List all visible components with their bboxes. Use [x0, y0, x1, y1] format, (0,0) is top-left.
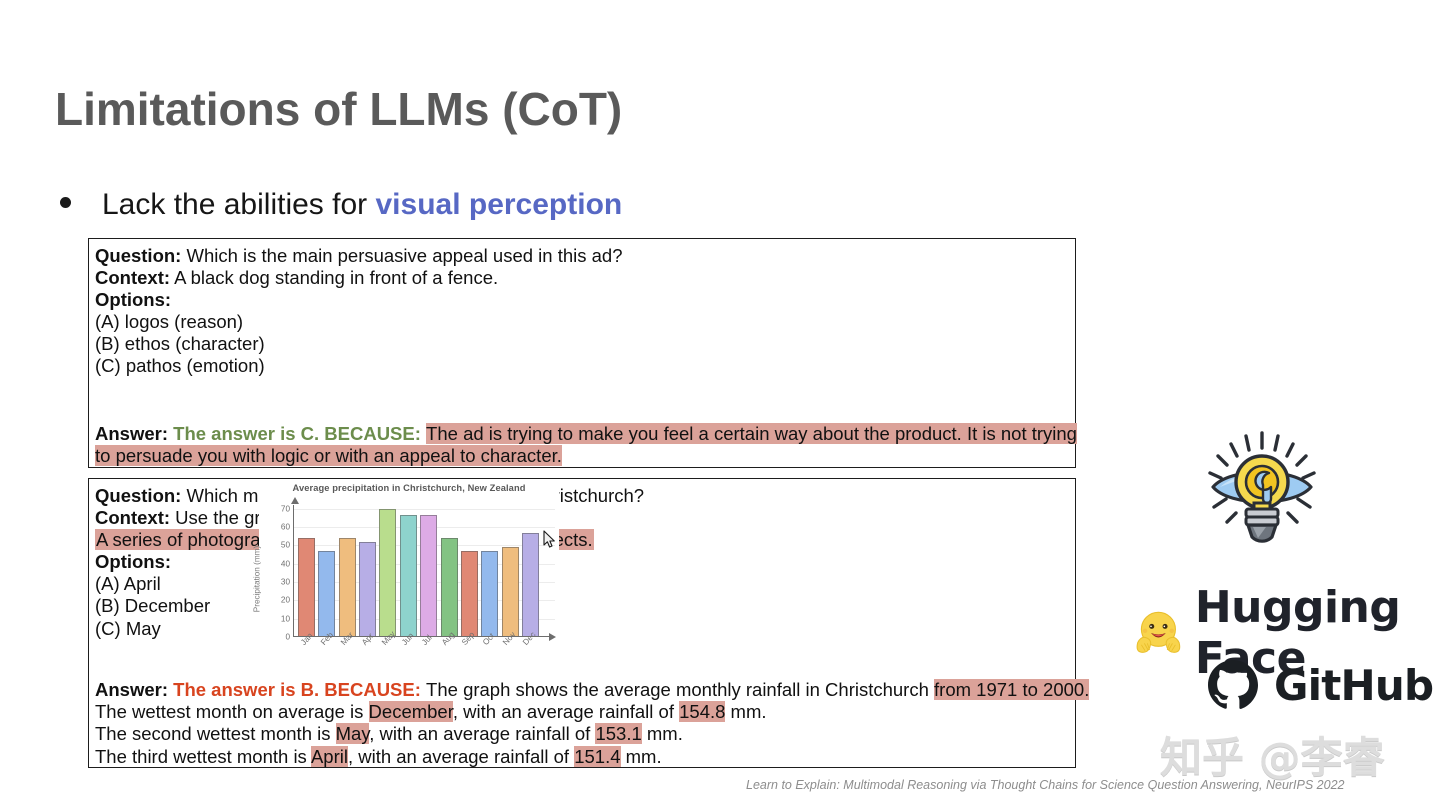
question-label: Question: — [95, 485, 181, 506]
chart-bar — [379, 509, 396, 636]
bullet-accent: visual perception — [375, 188, 622, 221]
answer-l2-hl2: 154.8 — [679, 701, 725, 722]
chart-y-tick: 40 — [281, 559, 290, 568]
chart-y-tick: 50 — [281, 541, 290, 550]
example-box-1: Question: Which is the main persuasive a… — [88, 238, 1076, 468]
answer-l4-b: , with an average rainfall of — [348, 746, 574, 767]
chart-bar — [502, 547, 519, 636]
context-line: Context: A black dog standing in front o… — [95, 267, 623, 289]
example-1-prompt: Question: Which is the main persuasive a… — [95, 245, 623, 378]
github-icon — [1206, 658, 1260, 712]
answer-l4-hl2: 151.4 — [574, 746, 620, 767]
answer-l3-c: mm. — [642, 723, 683, 744]
github-logo-row: GitHub — [1206, 658, 1433, 712]
chart-bar-slot — [522, 505, 539, 636]
answer-l3-b: , with an average rainfall of — [369, 723, 595, 744]
chart-bar-slot — [359, 505, 376, 636]
github-label: GitHub — [1274, 661, 1433, 710]
citation: Learn to Explain: Multimodal Reasoning v… — [746, 778, 1344, 792]
answer-l3-hl2: 153.1 — [595, 723, 641, 744]
chart-bar-slot — [379, 505, 396, 636]
answer-l4-a: The third wettest month is — [95, 746, 311, 767]
answer-l2-c: mm. — [725, 701, 766, 722]
chart-title: Average precipitation in Christchurch, N… — [259, 483, 559, 493]
chart-bar-slot — [420, 505, 437, 636]
option-b: (B) ethos (character) — [95, 333, 623, 355]
answer-label: Answer: — [95, 679, 168, 700]
chart-bar-slot — [441, 505, 458, 636]
chart-bar — [461, 551, 478, 636]
zhihu-watermark: 知乎 @李睿 — [1160, 724, 1385, 785]
answer-label: Answer: — [95, 423, 168, 444]
chart-bar — [420, 515, 437, 636]
question-label: Question: — [95, 245, 181, 266]
options-label-text: Options: — [95, 289, 171, 310]
chart-bar-slot — [339, 505, 356, 636]
slide-canvas: Limitations of LLMs (CoT) Lack the abili… — [0, 0, 1440, 809]
bullet-prefix: Lack the abilities for — [102, 188, 375, 221]
answer-line-2: The wettest month on average is December… — [95, 701, 1071, 723]
chart-bar — [522, 533, 539, 636]
options-label-text: Options: — [95, 551, 171, 572]
chart-bar-slot — [481, 505, 498, 636]
answer-line-1: Answer: The answer is C. BECAUSE: The ad… — [95, 423, 1071, 445]
bullet-text: Lack the abilities for visual perception — [102, 188, 622, 222]
page-title: Limitations of LLMs (CoT) — [55, 82, 622, 136]
example-box-2: Question: Which month is the wettest on … — [88, 478, 1076, 768]
option-c: (C) pathos (emotion) — [95, 355, 623, 377]
answer-line-2: to persuade you with logic or with an ap… — [95, 445, 1071, 467]
chart-bar-slot — [298, 505, 315, 636]
chart-bar-slot — [461, 505, 478, 636]
chart-bar-slot — [318, 505, 335, 636]
chart-plot-area: 010203040506070 — [293, 505, 549, 637]
answer-l2-a: The wettest month on average is — [95, 701, 369, 722]
answer-l2-b: , with an average rainfall of — [453, 701, 679, 722]
answer-line-3: The second wettest month is May, with an… — [95, 723, 1071, 745]
answer-l3-hl1: May — [336, 723, 370, 744]
chart-bars — [298, 505, 539, 636]
answer-l3-a: The second wettest month is — [95, 723, 336, 744]
y-axis-arrow-icon — [291, 497, 299, 504]
chart-y-tick: 60 — [281, 523, 290, 532]
question-line: Question: Which is the main persuasive a… — [95, 245, 623, 267]
context-label: Context: — [95, 267, 170, 288]
answer-line-4: The third wettest month is April, with a… — [95, 746, 1071, 768]
answer-l2-hl1: December — [369, 701, 453, 722]
hugging-face-icon — [1134, 600, 1183, 666]
answer-body-2: to persuade you with logic or with an ap… — [95, 445, 562, 466]
answer-l1-a: The graph shows the average monthly rain… — [426, 679, 934, 700]
chart-y-tick: 0 — [285, 633, 290, 642]
question-text: Which is the main persuasive appeal used… — [181, 245, 622, 266]
chart-y-tick: 20 — [281, 596, 290, 605]
answer-l4-hl1: April — [311, 746, 348, 767]
chart-bar — [318, 551, 335, 636]
answer-l1-hl: from 1971 to 2000. — [934, 679, 1089, 700]
answer-verdict: The answer is C. BECAUSE: — [173, 423, 421, 444]
answer-line-1: Answer: The answer is B. BECAUSE: The gr… — [95, 679, 1071, 701]
example-2-answer: Answer: The answer is B. BECAUSE: The gr… — [95, 679, 1071, 768]
mouse-cursor-icon — [543, 530, 556, 549]
answer-verdict: The answer is B. BECAUSE: — [173, 679, 421, 700]
option-a: (A) logos (reason) — [95, 311, 623, 333]
chart-ylabel: Precipitation (mm) — [253, 546, 262, 612]
bullet-dot-icon — [60, 197, 71, 208]
chart-bar-slot — [400, 505, 417, 636]
eye-lightbulb-icon — [1196, 425, 1328, 557]
answer-body-1: The ad is trying to make you feel a cert… — [426, 423, 1077, 444]
context-text: A black dog standing in front of a fence… — [170, 267, 498, 288]
context-label: Context: — [95, 507, 170, 528]
chart-bar — [441, 538, 458, 636]
chart-bar — [359, 542, 376, 636]
precipitation-bar-chart: Average precipitation in Christchurch, N… — [259, 483, 559, 675]
chart-bar — [339, 538, 356, 636]
chart-bar — [400, 515, 417, 636]
answer-l4-c: mm. — [621, 746, 662, 767]
chart-y-tick: 70 — [281, 504, 290, 513]
chart-bar — [481, 551, 498, 636]
bullet-point: Lack the abilities for visual perception — [60, 188, 622, 222]
chart-bar — [298, 538, 315, 636]
example-1-answer: Answer: The answer is C. BECAUSE: The ad… — [95, 423, 1071, 467]
chart-y-tick: 30 — [281, 578, 290, 587]
chart-bar-slot — [502, 505, 519, 636]
options-label: Options: — [95, 289, 623, 311]
x-axis-arrow-icon — [549, 633, 556, 641]
chart-y-tick: 10 — [281, 614, 290, 623]
